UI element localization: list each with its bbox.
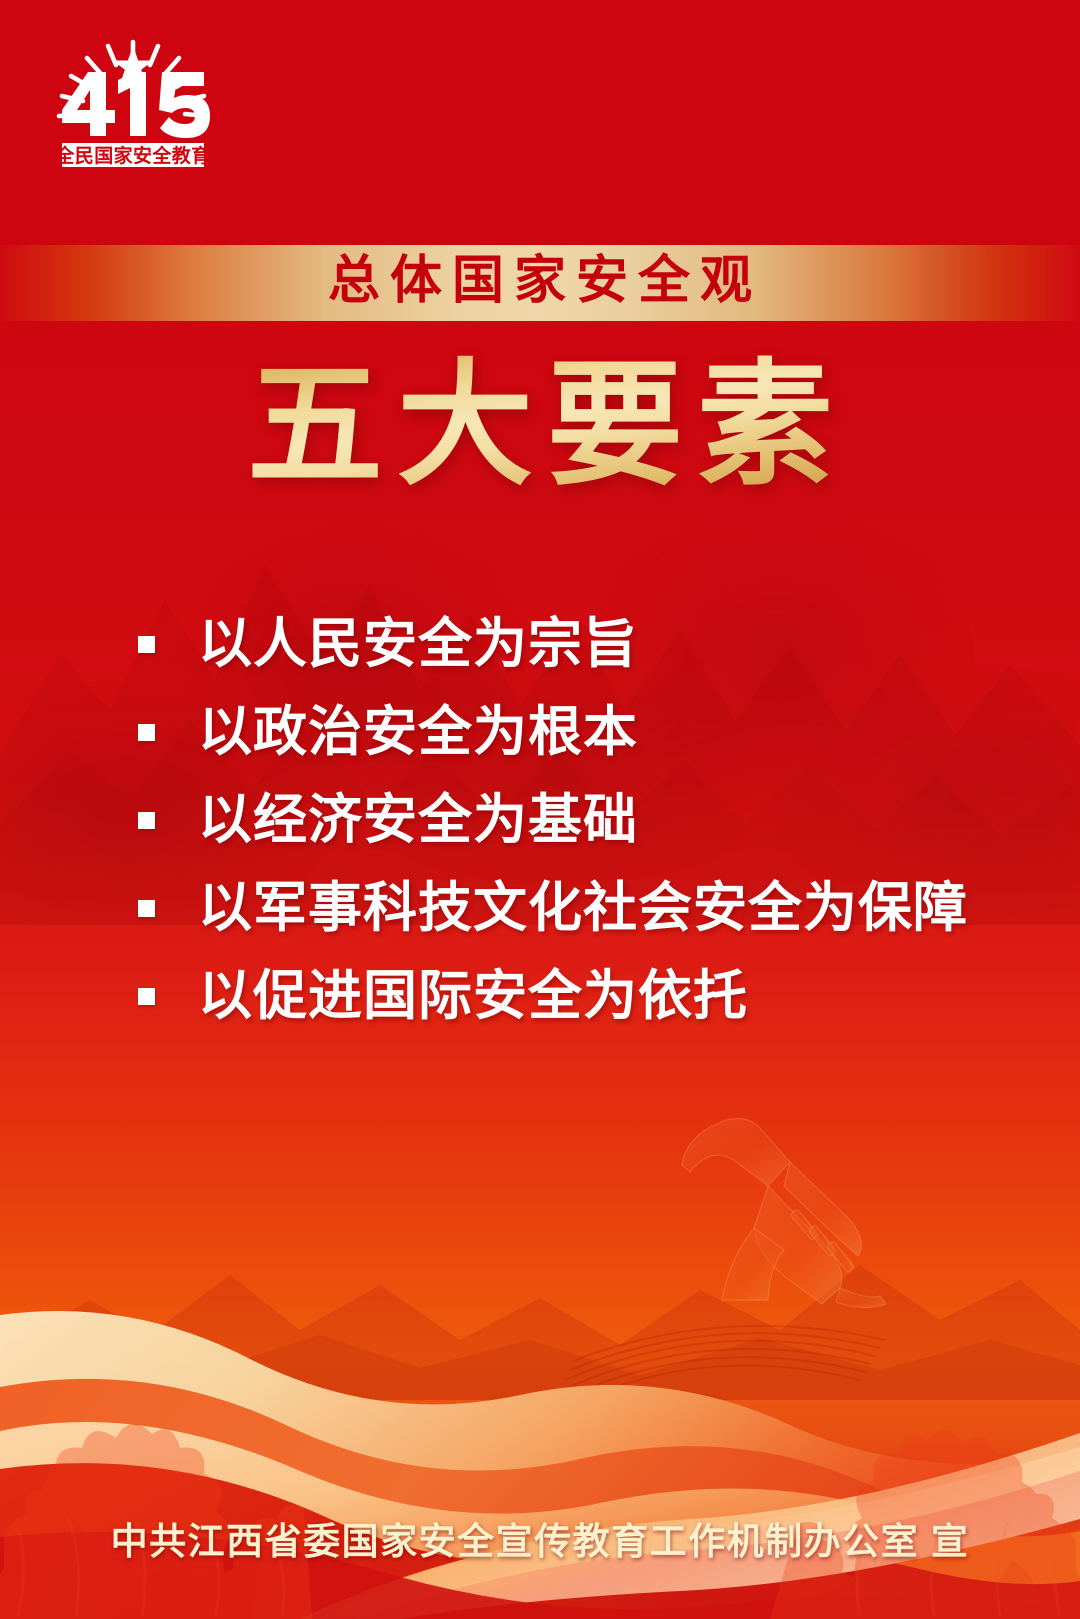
list-item-label: 以经济安全为基础 — [198, 793, 638, 847]
list-item-label: 以人民安全为宗旨 — [198, 617, 638, 671]
banner-overall-security-concept: 总体国家安全观 — [0, 245, 1080, 321]
page-title: 五大要素 — [0, 352, 1080, 499]
square-bullet-icon — [138, 724, 155, 741]
list-item-label: 以促进国际安全为依托 — [198, 969, 748, 1023]
list-item: 以人民安全为宗旨 — [0, 600, 1080, 688]
square-bullet-icon — [138, 900, 155, 917]
list-item: 以军事科技文化社会安全为保障 — [0, 864, 1080, 952]
banner-title: 总体国家安全观 — [318, 256, 762, 310]
poster-root: 全民国家安全教育 总体国家安全观 五大要素 以人民安全为宗旨 以政治安全为根本 … — [0, 0, 1080, 1619]
five-elements-list: 以人民安全为宗旨 以政治安全为根本 以经济安全为基础 以军事科技文化社会安全为保… — [0, 600, 1080, 1040]
footer-attribution: 中共江西省委国家安全宣传教育工作机制办公室 宣 — [0, 1511, 1080, 1565]
list-item: 以经济安全为基础 — [0, 776, 1080, 864]
square-bullet-icon — [138, 812, 155, 829]
list-item-label: 以政治安全为根本 — [198, 705, 638, 759]
footer: 中共江西省委国家安全宣传教育工作机制办公室 宣 — [0, 1511, 1080, 1565]
list-item-label: 以军事科技文化社会安全为保障 — [198, 881, 968, 935]
list-item: 以政治安全为根本 — [0, 688, 1080, 776]
national-security-education-day-logo: 全民国家安全教育 — [38, 28, 228, 168]
logo-number-415 — [62, 72, 210, 138]
square-bullet-icon — [138, 636, 155, 653]
square-bullet-icon — [138, 988, 155, 1005]
list-item: 以促进国际安全为依托 — [0, 952, 1080, 1040]
logo-caption: 全民国家安全教育 — [54, 144, 210, 167]
